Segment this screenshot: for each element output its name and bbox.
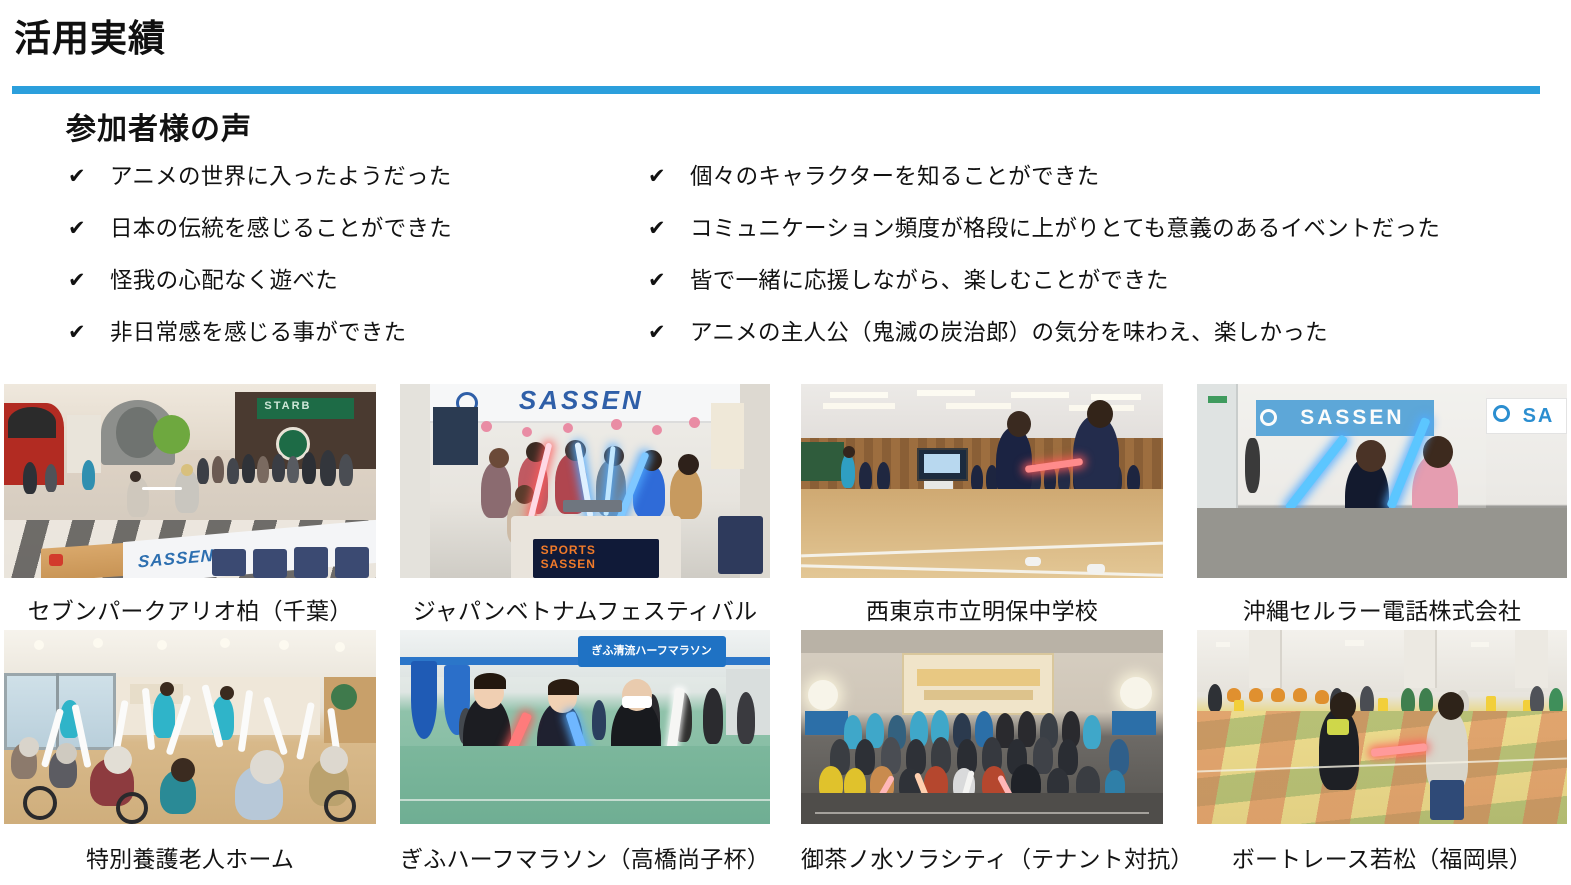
list-item: ✔ コミュニケーション頻度が格段に上がりとても意義のあるイベントだった	[648, 210, 1548, 262]
mall-sign-text: STARB	[264, 400, 346, 416]
check-icon: ✔	[68, 314, 110, 352]
photo-caption: ジャパンベトナムフェスティバル	[400, 592, 770, 626]
gallery-item: ぎふ清流ハーフマラソン	[400, 630, 770, 874]
photo-caption: 沖縄セルラー電話株式会社	[1197, 592, 1567, 626]
title-divider	[12, 86, 1540, 94]
check-icon: ✔	[648, 262, 690, 300]
page-title: 活用実績	[14, 17, 166, 61]
voice-text: 個々のキャラクターを知ることができた	[690, 158, 1548, 196]
check-icon: ✔	[648, 314, 690, 352]
list-item: ✔ 日本の伝統を感じることができた	[68, 210, 628, 262]
section-title: 参加者様の声	[66, 104, 252, 148]
photo-vietnam-festival: SASSEN	[400, 384, 770, 578]
gallery-item: 御茶ノ水ソラシティ（テナント対抗）	[801, 630, 1163, 874]
photo-school-gym	[801, 384, 1163, 578]
photo-mall: STARB	[4, 384, 376, 578]
check-icon: ✔	[648, 210, 690, 248]
list-item: ✔ アニメの世界に入ったようだった	[68, 158, 628, 210]
photo-caption: ぎふハーフマラソン（高橋尚子杯）	[400, 840, 770, 874]
photo-solacity-group	[801, 630, 1163, 824]
voices-left-column: ✔ アニメの世界に入ったようだった ✔ 日本の伝統を感じることができた ✔ 怪我…	[68, 158, 628, 366]
photo-caption: 御茶ノ水ソラシティ（テナント対抗）	[801, 840, 1163, 874]
check-icon: ✔	[68, 210, 110, 248]
voice-text: アニメの主人公（鬼滅の炭治郎）の気分を味わえ、楽しかった	[690, 314, 1548, 352]
photo-nursing-home	[4, 630, 376, 824]
list-item: ✔ 個々のキャラクターを知ることができた	[648, 158, 1548, 210]
gallery-item: 特別養護老人ホーム	[4, 630, 376, 874]
photo-caption: ボートレース若松（福岡県）	[1197, 840, 1567, 874]
photo-caption: セブンパークアリオ柏（千葉）	[4, 592, 376, 626]
gallery-item: 西東京市立明保中学校	[801, 384, 1163, 626]
photo-caption: 特別養護老人ホーム	[4, 840, 376, 874]
list-item: ✔ 怪我の心配なく遊べた	[68, 262, 628, 314]
voice-text: アニメの世界に入ったようだった	[110, 158, 628, 196]
gallery-item: ボートレース若松（福岡県）	[1197, 630, 1567, 874]
gallery-item: STARB	[4, 384, 376, 626]
check-icon: ✔	[648, 158, 690, 196]
list-item: ✔ 皆で一緒に応援しながら、楽しむことができた	[648, 262, 1548, 314]
photo-okinawa-cellular: SASSEN SA	[1197, 384, 1567, 578]
list-item: ✔ 非日常感を感じる事ができた	[68, 314, 628, 366]
voice-text: 怪我の心配なく遊べた	[110, 262, 628, 300]
voice-text: 非日常感を感じる事ができた	[110, 314, 628, 352]
check-icon: ✔	[68, 262, 110, 300]
voices-right-column: ✔ 個々のキャラクターを知ることができた ✔ コミュニケーション頻度が格段に上が…	[648, 158, 1548, 366]
list-item: ✔ アニメの主人公（鬼滅の炭治郎）の気分を味わえ、楽しかった	[648, 314, 1548, 366]
gallery-item: SASSEN SA	[1197, 384, 1567, 626]
gallery-item: SASSEN	[400, 384, 770, 626]
photo-boatrace-wakamatsu	[1197, 630, 1567, 824]
photo-gifu-marathon: ぎふ清流ハーフマラソン	[400, 630, 770, 824]
booth-sign-text: SPORTS SASSEN	[541, 543, 652, 557]
voice-text: 皆で一緒に応援しながら、楽しむことができた	[690, 262, 1548, 300]
photo-caption: 西東京市立明保中学校	[801, 592, 1163, 626]
voice-text: 日本の伝統を感じることができた	[110, 210, 628, 248]
sassen-banner-text: SASSEN	[467, 386, 696, 415]
voice-text: コミュニケーション頻度が格段に上がりとても意義のあるイベントだった	[690, 210, 1548, 248]
check-icon: ✔	[68, 158, 110, 196]
slide-root: 活用実績 参加者様の声 ✔ アニメの世界に入ったようだった ✔ 日本の伝統を感じ…	[0, 0, 1571, 885]
marathon-banner-text: ぎふ清流ハーフマラソン	[585, 640, 718, 663]
